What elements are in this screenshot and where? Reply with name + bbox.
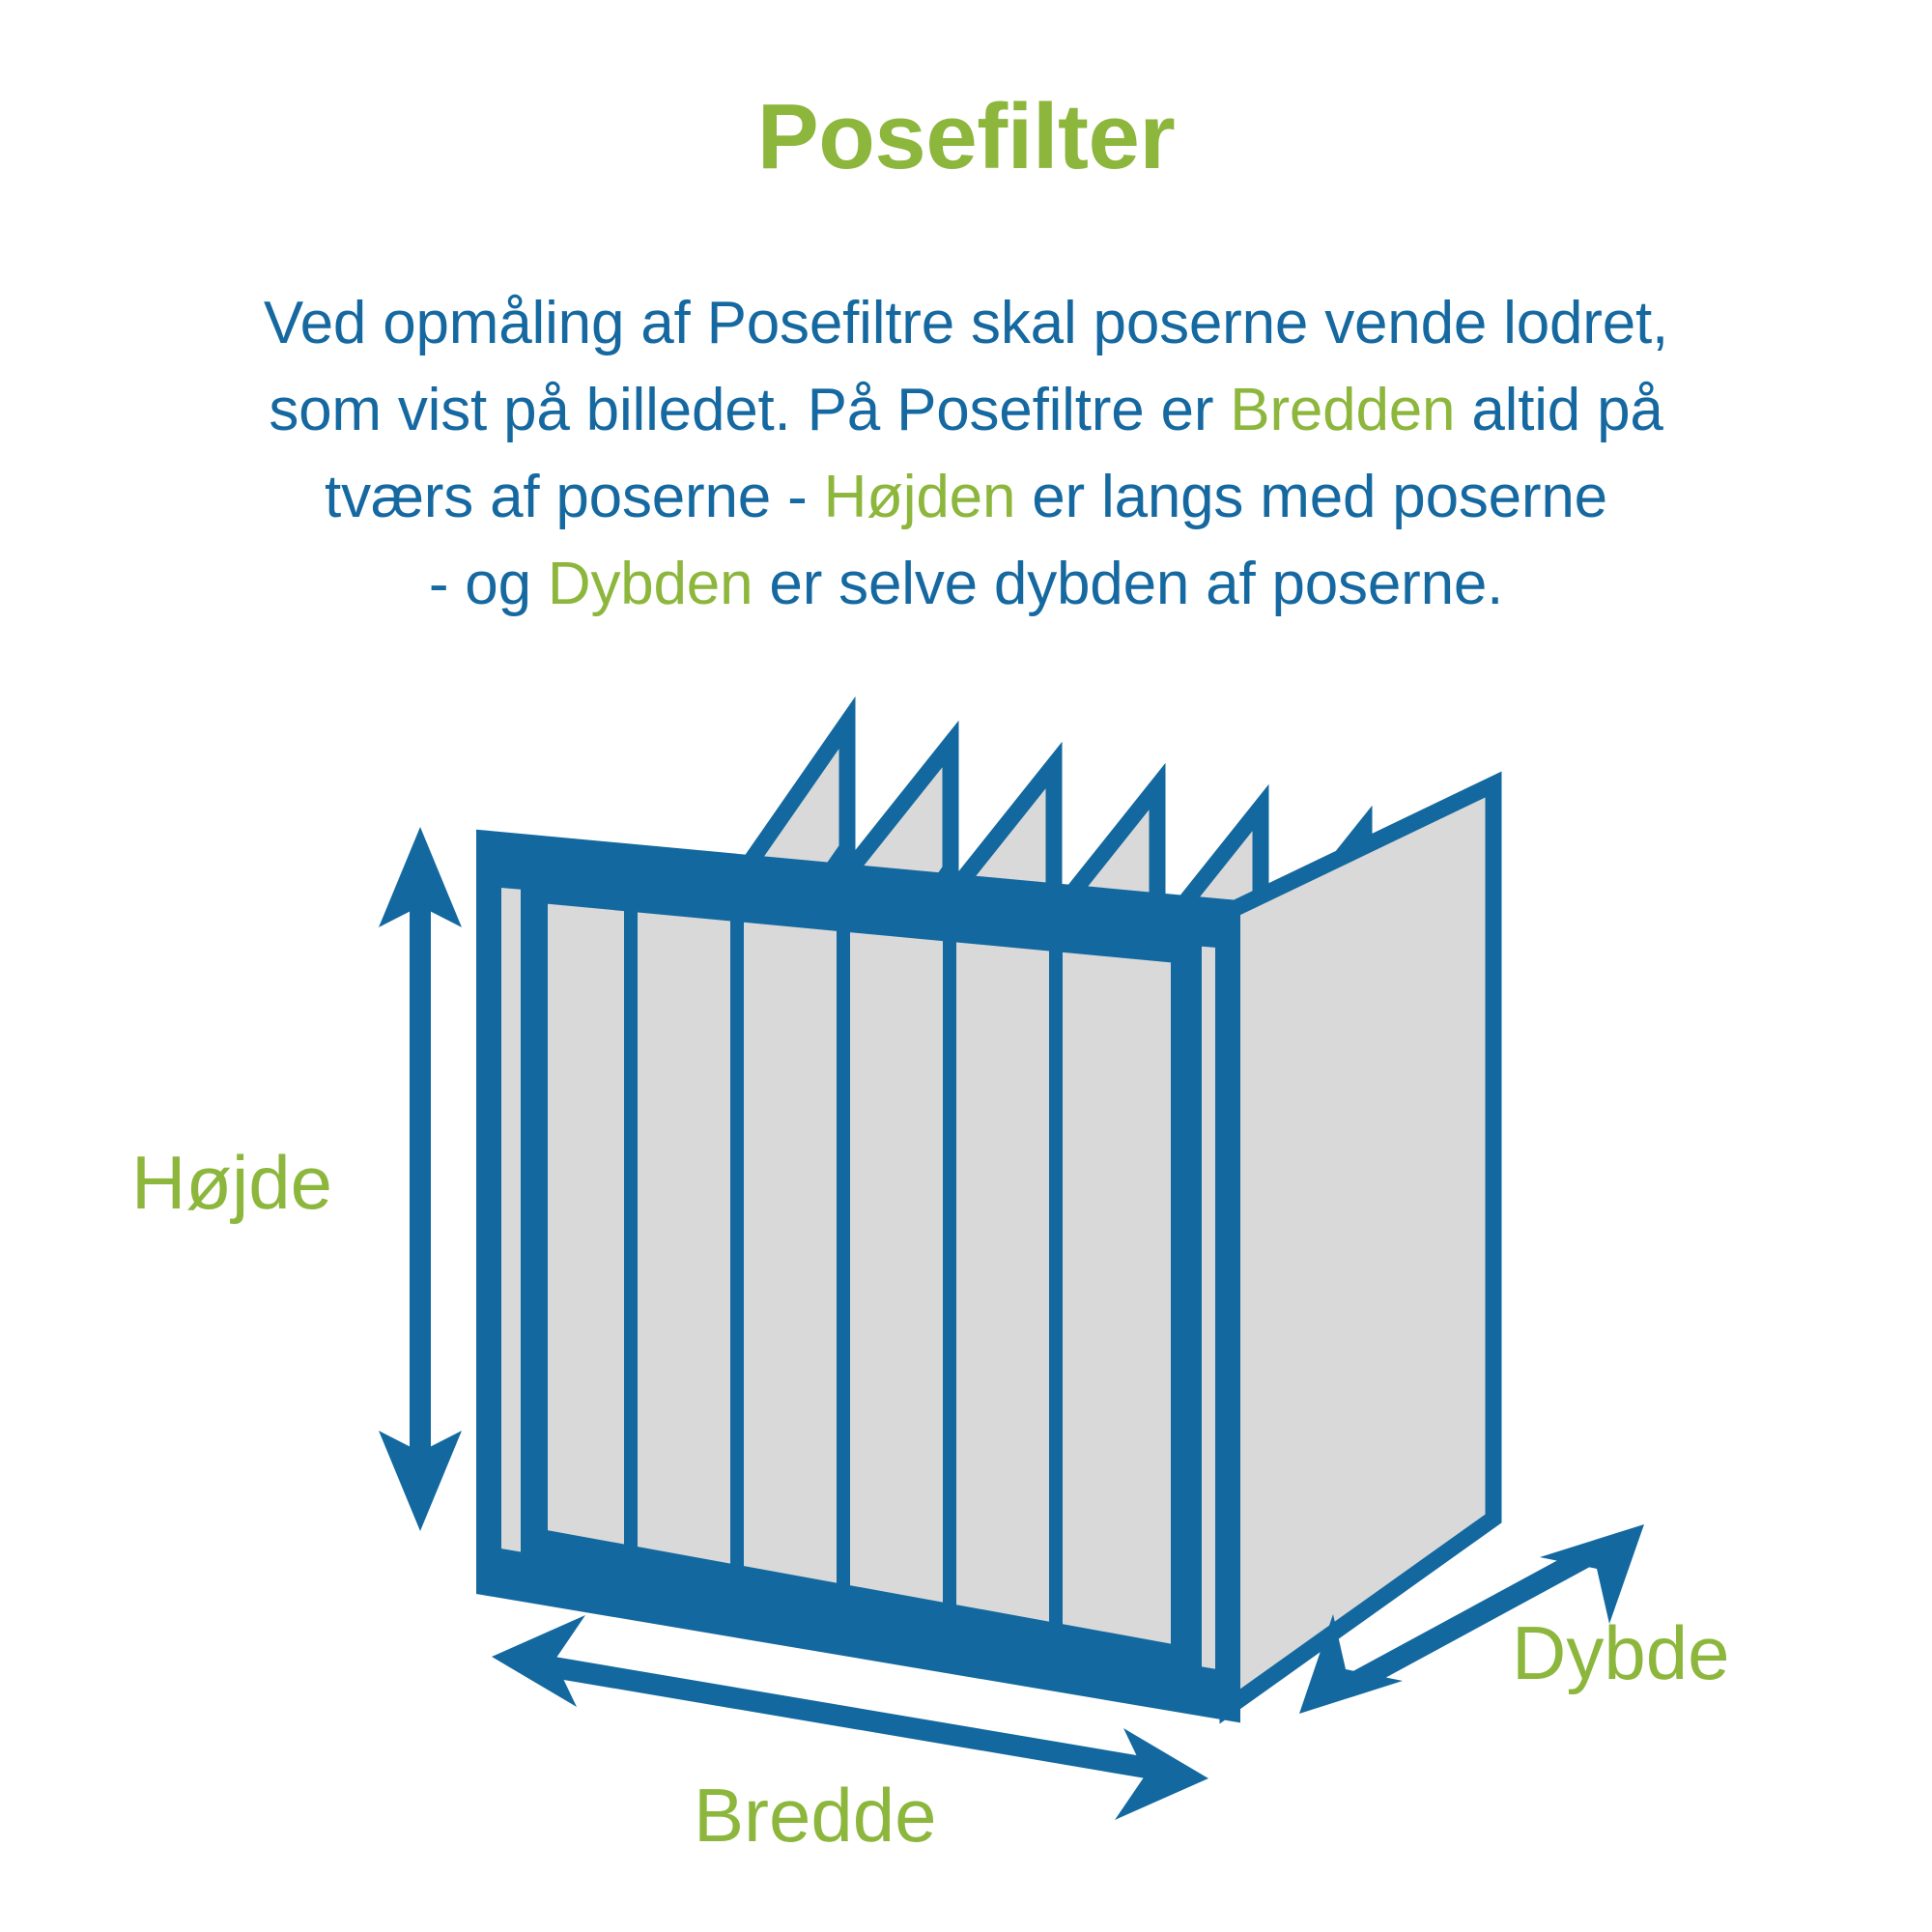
height-arrow [379, 827, 462, 1531]
poster-canvas: Posefilter Ved opmåling af Posefiltre sk… [0, 0, 1932, 1932]
dimension-label-depth: Dybde [1512, 1615, 1729, 1690]
filter-body [489, 723, 1493, 1708]
filter-right-side-face [1228, 784, 1493, 1708]
dimension-label-width: Bredde [694, 1777, 937, 1853]
dimension-label-height: Højde [131, 1145, 332, 1220]
